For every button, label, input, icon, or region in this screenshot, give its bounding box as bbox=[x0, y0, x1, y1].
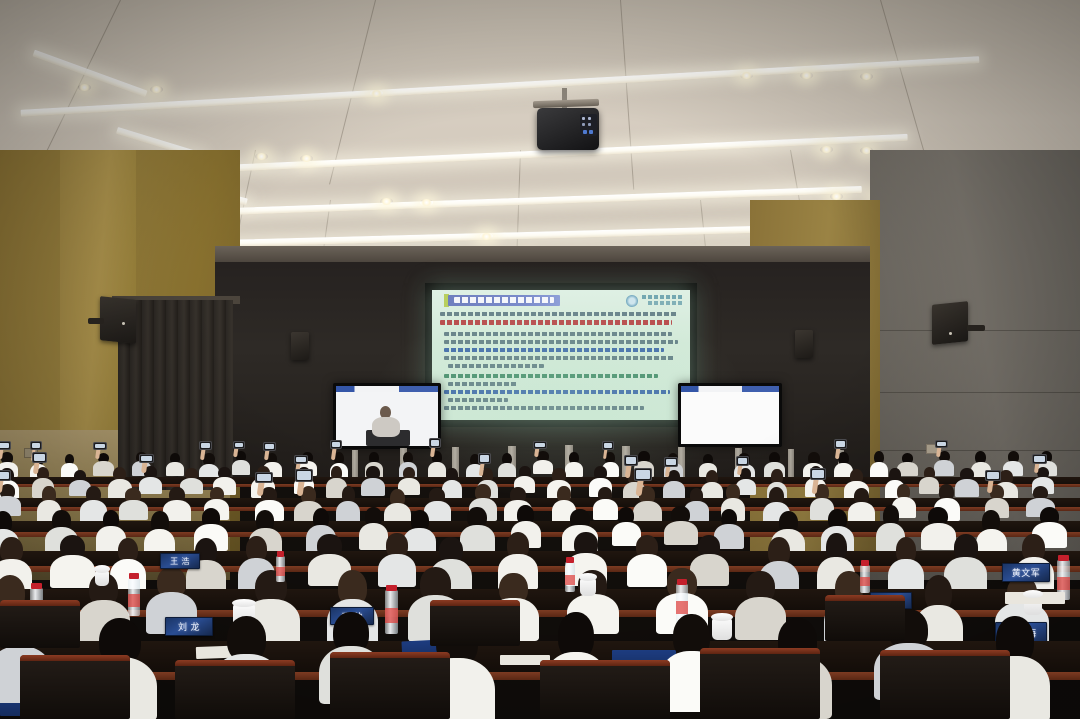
chair-top-trim bbox=[880, 650, 1010, 656]
smartphone-screen bbox=[836, 441, 844, 447]
audience-member bbox=[663, 470, 685, 499]
smartphone[interactable] bbox=[294, 455, 307, 464]
smartphone[interactable] bbox=[1032, 454, 1046, 463]
conference-hall-photo: 黄文军唐邦海李 帅刘 龙鹏 程武 帅王 浩陈建国 bbox=[0, 0, 1080, 719]
chair[interactable] bbox=[825, 595, 905, 641]
bottle-label bbox=[676, 601, 688, 615]
smartphone-screen bbox=[666, 459, 676, 465]
smartphone[interactable] bbox=[602, 441, 614, 450]
smartphone-screen bbox=[937, 442, 946, 447]
projector-control-panel bbox=[580, 114, 597, 136]
smartphone-screen bbox=[1034, 456, 1044, 461]
smartphone[interactable] bbox=[199, 441, 212, 451]
slide-text-line-6 bbox=[448, 364, 544, 368]
left-monitor-screen bbox=[336, 386, 438, 446]
nameplate-label: 王 浩 bbox=[170, 556, 190, 567]
chair-top-trim bbox=[700, 648, 820, 654]
bottle-label bbox=[128, 594, 140, 607]
smartphone[interactable] bbox=[30, 441, 42, 451]
smartphone-screen bbox=[604, 443, 612, 448]
audience-member bbox=[336, 486, 360, 525]
smartphone[interactable] bbox=[255, 472, 273, 483]
right-monitor-title-bar bbox=[681, 386, 779, 392]
ceiling-seam bbox=[620, 0, 634, 190]
smartphone-screen bbox=[32, 443, 40, 449]
slide-header-title-text bbox=[454, 297, 554, 303]
chair[interactable] bbox=[430, 600, 520, 646]
person-torso bbox=[361, 478, 386, 497]
slide-text-line-8 bbox=[448, 382, 518, 386]
bottle-cap bbox=[677, 579, 687, 585]
slide-text-line-5 bbox=[444, 356, 674, 360]
smartphone[interactable] bbox=[533, 441, 546, 449]
smartphone-screen bbox=[141, 456, 152, 462]
smartphone[interactable] bbox=[810, 468, 826, 480]
slide-text-line-4 bbox=[444, 348, 664, 352]
smartphone[interactable] bbox=[429, 438, 441, 448]
smartphone-screen bbox=[0, 472, 9, 479]
bottle-cap bbox=[277, 551, 284, 557]
bottle-label bbox=[1057, 577, 1070, 591]
smartphone[interactable] bbox=[93, 442, 107, 450]
smartphone[interactable] bbox=[139, 454, 154, 464]
speaker-led bbox=[949, 332, 952, 335]
right-monitor-screen bbox=[681, 386, 779, 444]
slide-logo-text-line1 bbox=[642, 295, 682, 299]
slide-logo-text-line2 bbox=[648, 301, 682, 305]
smartphone-screen bbox=[201, 443, 210, 449]
ceiling-downlight bbox=[800, 72, 813, 79]
speaker-led bbox=[122, 322, 125, 325]
ceiling-downlight bbox=[820, 146, 833, 153]
ceiling-downlight bbox=[150, 86, 163, 93]
ceiling-downlight bbox=[830, 193, 843, 200]
slide-logo-icon bbox=[626, 295, 638, 307]
smartphone[interactable] bbox=[233, 441, 245, 449]
teacup-lid bbox=[579, 573, 597, 581]
nameplate: 黄文军 bbox=[1002, 563, 1050, 582]
chair[interactable] bbox=[175, 660, 295, 719]
wall-speaker bbox=[932, 301, 968, 345]
ceiling-downlight bbox=[78, 84, 91, 91]
smartphone-screen bbox=[296, 457, 305, 462]
wall-speaker bbox=[291, 332, 309, 360]
smartphone-screen bbox=[738, 458, 747, 463]
smartphone[interactable] bbox=[330, 440, 342, 450]
smartphone-screen bbox=[95, 444, 105, 448]
smartphone-screen bbox=[332, 442, 340, 448]
teacup-lid bbox=[232, 599, 256, 607]
wall-seam bbox=[880, 392, 1080, 393]
smartphone[interactable] bbox=[295, 469, 313, 481]
chair-top-trim bbox=[430, 600, 520, 606]
ceiling-downlight bbox=[420, 199, 433, 206]
chair[interactable] bbox=[540, 660, 670, 719]
bottle-label bbox=[565, 575, 575, 585]
chair[interactable] bbox=[700, 648, 820, 719]
slide-text-line-3 bbox=[444, 340, 678, 344]
bottle-cap bbox=[129, 573, 139, 579]
bottle-label bbox=[385, 608, 398, 623]
teacup-lid bbox=[711, 613, 733, 621]
nameplate-label: 黄文军 bbox=[1012, 566, 1041, 579]
smartphone[interactable] bbox=[32, 452, 47, 462]
nameplate: 刘 龙 bbox=[165, 617, 213, 636]
smartphone-screen bbox=[297, 471, 311, 479]
smartphone-screen bbox=[0, 443, 9, 448]
ceiling-downlight bbox=[860, 73, 873, 80]
bottle-label bbox=[276, 567, 285, 576]
slide-text-line-9 bbox=[444, 390, 670, 394]
speaker-mount-arm bbox=[967, 325, 985, 331]
smartphone[interactable] bbox=[935, 440, 948, 449]
smartphone[interactable] bbox=[0, 441, 11, 450]
smartphone[interactable] bbox=[985, 470, 1000, 481]
nameplate: 王 浩 bbox=[160, 553, 200, 569]
smartphone-screen bbox=[480, 455, 489, 462]
chair-top-trim bbox=[330, 652, 450, 658]
smartphone-screen bbox=[987, 472, 998, 479]
wall-speaker bbox=[795, 330, 813, 358]
slide-text-line-1 bbox=[440, 320, 672, 325]
chair-top-trim bbox=[0, 600, 80, 606]
chair[interactable] bbox=[880, 650, 1010, 719]
speaker-torso bbox=[372, 417, 400, 437]
bottle-label bbox=[860, 577, 870, 587]
nameplate-label: 刘 龙 bbox=[178, 620, 200, 633]
smartphone-screen bbox=[235, 443, 243, 447]
slide-text-line-2 bbox=[444, 332, 672, 336]
ceiling-downlight bbox=[480, 233, 493, 240]
person-torso bbox=[663, 481, 685, 499]
chair[interactable] bbox=[20, 655, 130, 719]
smartphone[interactable] bbox=[664, 457, 678, 467]
audience-member bbox=[361, 466, 386, 496]
ceiling-downlight bbox=[380, 198, 393, 205]
teacup-lid bbox=[1023, 590, 1043, 598]
ceiling-downlight bbox=[740, 72, 753, 79]
bottle-cap bbox=[386, 585, 397, 591]
smartphone[interactable] bbox=[478, 453, 491, 464]
slide-text-line-10 bbox=[448, 398, 508, 402]
hall-pillar bbox=[352, 450, 358, 478]
bottle-cap bbox=[1058, 555, 1069, 561]
smartphone-screen bbox=[431, 440, 439, 446]
smartphone[interactable] bbox=[0, 470, 11, 481]
smartphone-screen bbox=[265, 444, 273, 449]
bottle-cap bbox=[566, 557, 574, 563]
ceiling-downlight bbox=[370, 90, 383, 97]
slide-text-line-7 bbox=[444, 374, 658, 378]
wall-speaker bbox=[100, 296, 136, 344]
bottle-cap bbox=[861, 560, 869, 566]
teacup-lid bbox=[94, 565, 110, 573]
smartphone[interactable] bbox=[263, 442, 275, 451]
slide-text-line-11 bbox=[444, 406, 644, 410]
left-monitor-title-bar bbox=[336, 386, 438, 392]
smartphone-screen bbox=[812, 470, 824, 478]
bottle-cap bbox=[31, 583, 42, 589]
smartphone-screen bbox=[626, 457, 637, 464]
ceiling-downlight bbox=[300, 155, 313, 162]
smartphone[interactable] bbox=[736, 456, 749, 465]
speaker-mount-arm bbox=[88, 318, 104, 324]
chair-top-trim bbox=[20, 655, 130, 661]
smartphone[interactable] bbox=[834, 439, 846, 449]
chair-top-trim bbox=[825, 595, 905, 601]
slide-text-line-0 bbox=[440, 312, 678, 316]
chair[interactable] bbox=[0, 600, 80, 648]
smartphone[interactable] bbox=[624, 455, 639, 466]
smartphone-screen bbox=[34, 454, 45, 460]
smartphone-screen bbox=[636, 470, 650, 479]
hall-pillar bbox=[788, 449, 794, 479]
chair-top-trim bbox=[540, 660, 670, 666]
smartphone[interactable] bbox=[634, 468, 652, 481]
chair-top-trim bbox=[175, 660, 295, 666]
chair[interactable] bbox=[330, 652, 450, 719]
ceiling-downlight bbox=[255, 153, 268, 160]
smartphone-screen bbox=[257, 474, 271, 481]
projection-screen bbox=[432, 290, 690, 420]
smartphone-screen bbox=[535, 443, 544, 447]
